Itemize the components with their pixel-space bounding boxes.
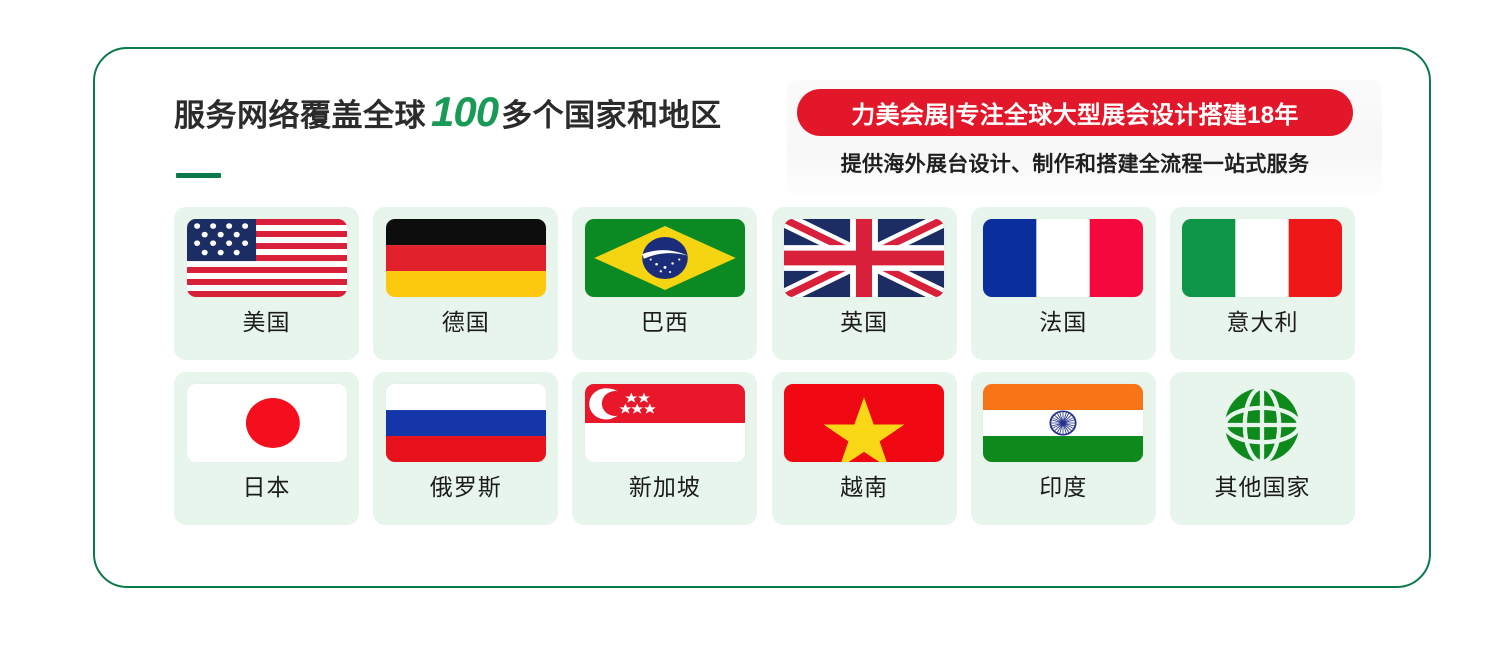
service-network-panel: 服务网络覆盖全球 100 多个国家和地区 力美会展|专注全球大型展会设计搭建18… — [93, 47, 1431, 588]
title-accent-bar — [176, 173, 221, 178]
headline-suffix: 多个国家和地区 — [501, 100, 722, 131]
country-card-singapore[interactable]: 新加坡 — [572, 372, 757, 525]
france-flag — [983, 219, 1143, 297]
country-label: 新加坡 — [629, 476, 701, 499]
country-card-italy[interactable]: 意大利 — [1170, 207, 1355, 360]
country-label: 德国 — [442, 311, 490, 334]
japan-flag — [187, 384, 347, 462]
country-label: 美国 — [243, 311, 291, 334]
country-card-france[interactable]: 法国 — [971, 207, 1156, 360]
headline-number: 100 — [426, 91, 501, 133]
italy-flag — [1182, 219, 1342, 297]
country-card-india[interactable]: 印度 — [971, 372, 1156, 525]
country-label: 法国 — [1039, 311, 1087, 334]
country-label: 英国 — [840, 311, 888, 334]
singapore-flag — [585, 384, 745, 462]
country-label: 意大利 — [1226, 311, 1298, 334]
russia-flag — [386, 384, 546, 462]
country-label: 俄罗斯 — [430, 476, 502, 499]
usa-flag — [187, 219, 347, 297]
country-card-grid: 美国 德国 — [174, 207, 1355, 525]
promo-pill-label: 力美会展|专注全球大型展会设计搭建18年 — [851, 95, 1298, 130]
country-card-other[interactable]: 其他国家 — [1170, 372, 1355, 525]
promo-block: 力美会展|专注全球大型展会设计搭建18年 提供海外展台设计、制作和搭建全流程一站… — [787, 80, 1382, 194]
country-card-russia[interactable]: 俄罗斯 — [373, 372, 558, 525]
page-title: 服务网络覆盖全球 100 多个国家和地区 — [174, 91, 722, 133]
country-card-brazil[interactable]: 巴西 — [572, 207, 757, 360]
uk-flag — [784, 219, 944, 297]
germany-flag — [386, 219, 546, 297]
country-label: 印度 — [1039, 476, 1087, 499]
country-card-usa[interactable]: 美国 — [174, 207, 359, 360]
country-card-germany[interactable]: 德国 — [373, 207, 558, 360]
country-card-uk[interactable]: 英国 — [772, 207, 957, 360]
promo-pill-badge: 力美会展|专注全球大型展会设计搭建18年 — [797, 89, 1353, 136]
globe-icon — [1219, 382, 1305, 468]
country-label: 巴西 — [641, 311, 689, 334]
country-label: 日本 — [243, 476, 291, 499]
panel-header: 服务网络覆盖全球 100 多个国家和地区 力美会展|专注全球大型展会设计搭建18… — [95, 49, 1429, 199]
promo-subtitle: 提供海外展台设计、制作和搭建全流程一站式服务 — [787, 148, 1363, 178]
country-card-japan[interactable]: 日本 — [174, 372, 359, 525]
brazil-flag — [585, 219, 745, 297]
country-label: 其他国家 — [1214, 476, 1310, 499]
country-label: 越南 — [840, 476, 888, 499]
country-card-vietnam[interactable]: 越南 — [772, 372, 957, 525]
india-flag — [983, 384, 1143, 462]
vietnam-flag — [784, 384, 944, 462]
headline-prefix: 服务网络覆盖全球 — [174, 100, 426, 131]
